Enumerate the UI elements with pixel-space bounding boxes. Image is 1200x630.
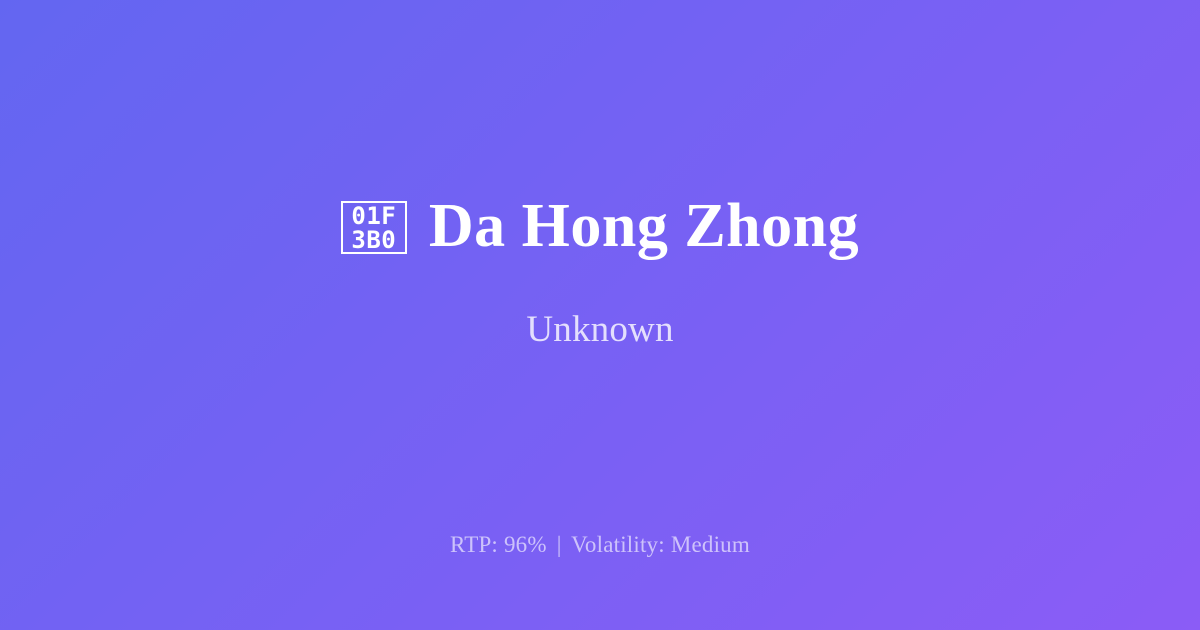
rtp-label: RTP: [450,532,498,557]
meta-separator: | [553,532,566,557]
card-content: 01F 3B0 Da Hong Zhong Unknown [0,194,1200,352]
og-share-card: 01F 3B0 Da Hong Zhong Unknown RTP: 96% |… [0,0,1200,630]
game-provider-subtitle: Unknown [526,308,673,352]
volatility-label: Volatility: [571,532,665,557]
rtp-value: 96% [504,532,547,557]
page-title: 01F 3B0 Da Hong Zhong [341,194,859,260]
game-stats-line: RTP: 96% | Volatility: Medium [0,530,1200,560]
volatility-value: Medium [671,532,750,557]
game-title-text: Da Hong Zhong [429,194,859,260]
slot-machine-icon: 01F 3B0 [341,201,407,254]
tofu-codepoint-top: 01F [351,204,396,228]
tofu-codepoint-bottom: 3B0 [351,228,396,252]
